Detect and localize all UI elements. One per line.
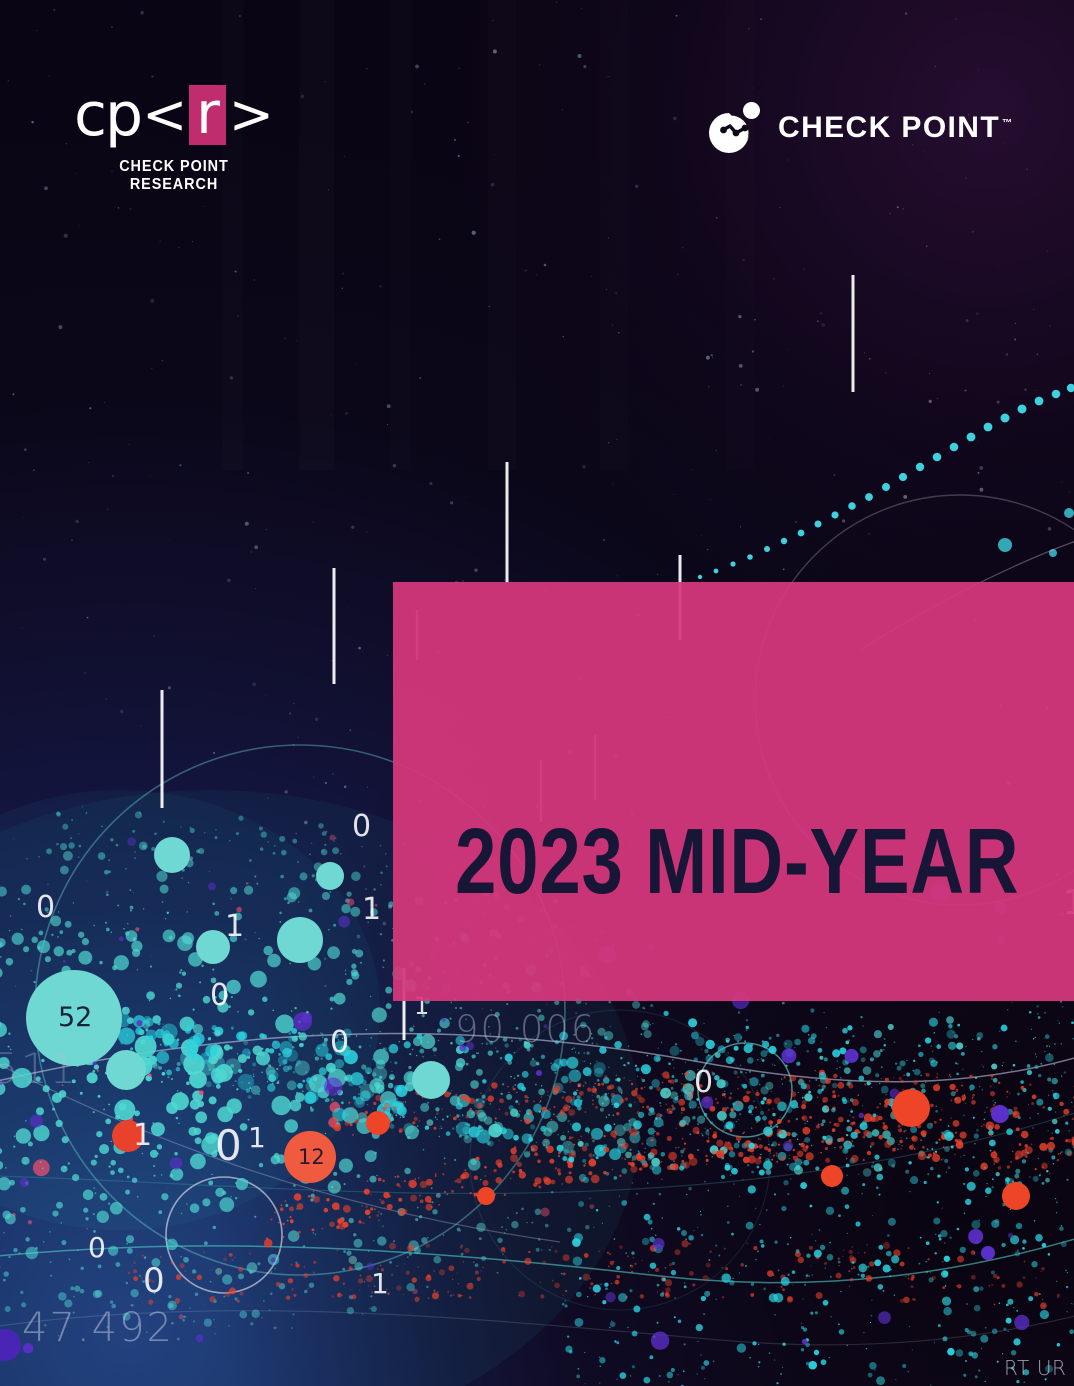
decor-number-47492: 47.492 [22,1305,174,1351]
telemetry-readout: RT UR [56.065 H - 85 | [1004,1300,1074,1386]
binary-digit: 1 [248,1124,266,1152]
check-point-wordmark: CHECK POINT™ [778,111,1012,145]
page-title: 2023 MID-YEAR CYBER SECURITY REPORT [455,634,950,1001]
cpr-logo-lt: < [142,88,186,142]
binary-digit: 1 [133,1121,152,1151]
cpr-logo[interactable]: cp < r > CHECK POINT RESEARCH [74,84,274,194]
check-point-trademark: ™ [1002,118,1012,129]
telemetry-line-1: RT UR [1004,1355,1074,1383]
cpr-logo-r-box: r [189,85,225,145]
binary-digit: 0 [36,893,55,923]
binary-digit: 0 [694,1068,713,1098]
binary-digit: 0 [143,1264,165,1298]
bubble-label-52: 52 [58,1004,92,1031]
title-banner: 2023 MID-YEAR CYBER SECURITY REPORT [393,582,1074,1001]
title-line-1: 2023 MID-YEAR [455,816,950,907]
cpr-wordmark: cp < r > [74,84,274,146]
cpr-logo-r: r [196,90,219,136]
decor-number-511: 511 [0,1044,78,1093]
binary-digit: 0 [215,1125,242,1167]
cpr-logo-cp: cp [74,85,141,145]
binary-digit: 0 [330,1028,349,1058]
binary-digit: 1 [362,895,381,925]
binary-digit: 1 [225,912,244,942]
check-point-mark-icon [706,99,764,157]
check-point-name: CHECK POINT [778,111,1000,144]
bubble-label-12: 12 [298,1147,325,1168]
check-point-logo[interactable]: CHECK POINT™ [706,99,1012,157]
binary-digit: 0 [210,981,229,1011]
decor-number-90006: 90.006 [455,1008,596,1051]
binary-digit: 1 [371,1270,389,1298]
binary-digit: 0 [88,1234,106,1262]
cpr-logo-gt: > [229,88,273,142]
report-cover-page: 52 12 010110001001011 511 90.006 47.492 … [0,0,1074,1386]
binary-digit: 0 [352,812,371,842]
cpr-logo-subtitle: CHECK POINT RESEARCH [81,158,267,194]
